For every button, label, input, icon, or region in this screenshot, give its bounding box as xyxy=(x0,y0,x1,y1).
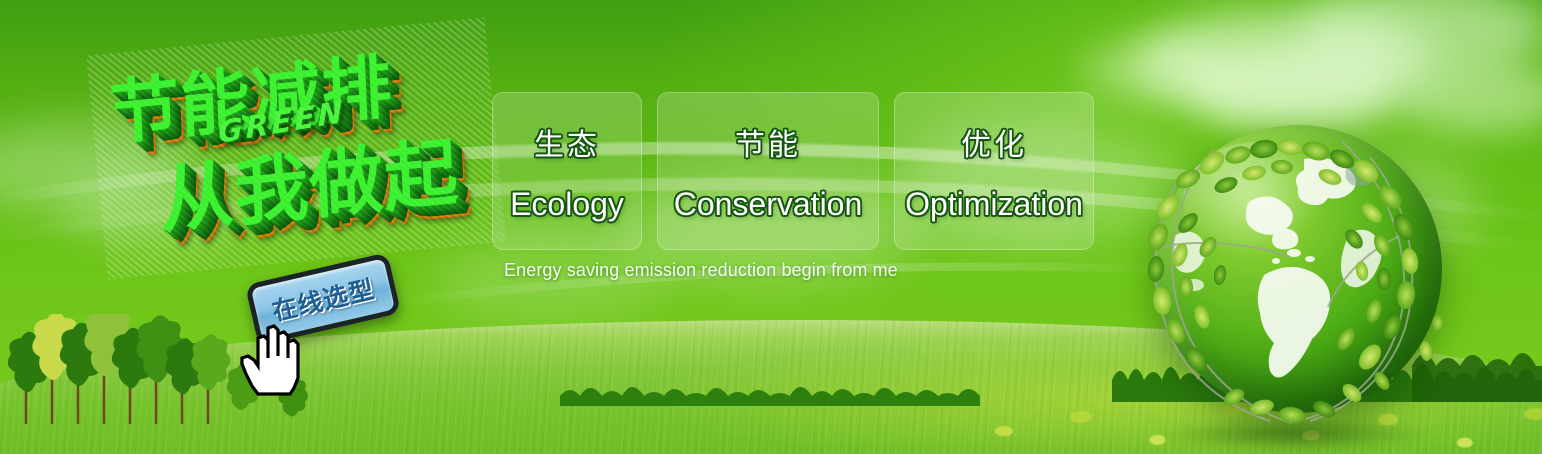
green-energy-banner: 节能减排 从我做起 GREEN 生态 Ecology 节能 Conservati… xyxy=(0,0,1542,454)
globe-sphere xyxy=(1154,125,1442,413)
title-3d-artwork: 节能减排 从我做起 GREEN xyxy=(86,17,506,279)
cloud-shape xyxy=(1080,40,1230,102)
feature-card-cn-label: 节能 xyxy=(735,120,801,164)
globe-icon: leaf-covered-earth-globe xyxy=(0,0,1,1)
globe-highlight xyxy=(1183,142,1333,257)
feature-card-conservation[interactable]: 节能 Conservation xyxy=(657,92,879,250)
cloud-shape xyxy=(1300,0,1542,76)
globe-ground-shadow xyxy=(1160,419,1428,449)
feature-card-en-label: Conservation xyxy=(674,186,863,223)
cloud-shape xyxy=(1135,10,1435,115)
hand-pointer-cursor-icon xyxy=(238,316,314,396)
feature-card-ecology[interactable]: 生态 Ecology xyxy=(492,92,642,250)
feature-card-en-label: Ecology xyxy=(510,186,624,223)
feature-card-cn-label: 优化 xyxy=(961,120,1027,164)
feature-card-list: 生态 Ecology 节能 Conservation 优化 Optimizati… xyxy=(492,92,1094,250)
feature-card-en-label: Optimization xyxy=(905,186,1083,223)
banner-tagline: Energy saving emission reduction begin f… xyxy=(504,260,898,281)
feature-card-cn-label: 生态 xyxy=(534,120,600,164)
leaf-globe-graphic xyxy=(1130,115,1460,445)
feature-card-optimization[interactable]: 优化 Optimization xyxy=(894,92,1094,250)
